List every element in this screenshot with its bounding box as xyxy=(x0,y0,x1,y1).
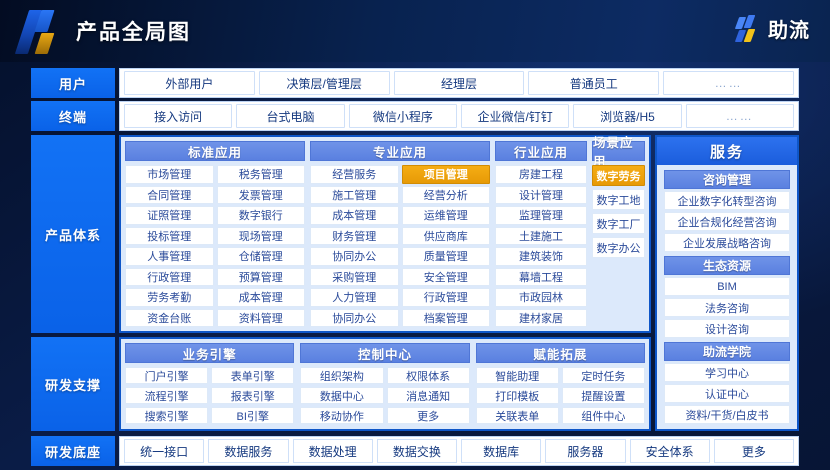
terminal-cell[interactable]: 企业微信/钉钉 xyxy=(461,104,569,128)
group-column: 市场管理合同管理证照管理投标管理人事管理行政管理劳务考勤资金台账 xyxy=(125,165,214,327)
app-item[interactable]: 现场管理 xyxy=(217,227,306,246)
app-item[interactable]: 智能助理 xyxy=(476,367,559,384)
app-item[interactable]: 组织架构 xyxy=(300,367,383,384)
group-column: 税务管理发票管理数字银行现场管理仓储管理预算管理成本管理资料管理 xyxy=(217,165,306,327)
dev-base-cell[interactable]: 服务器 xyxy=(545,439,625,463)
app-item[interactable]: 项目管理 xyxy=(402,165,491,184)
terminal-cell[interactable]: 台式电脑 xyxy=(236,104,344,128)
group-column: 数字劳务数字工地数字工厂数字办公 xyxy=(592,165,645,327)
app-item[interactable]: 组件中心 xyxy=(562,407,645,424)
app-item[interactable]: 经营分析 xyxy=(402,186,491,205)
app-item[interactable]: 监理管理 xyxy=(495,206,587,225)
group-赋能拓展: 赋能拓展智能助理打印模板关联表单定时任务提醒设置组件中心 xyxy=(476,343,645,425)
app-item[interactable]: 人事管理 xyxy=(125,247,214,266)
app-item[interactable]: 表单引擎 xyxy=(211,367,294,384)
dev-base-cell[interactable]: 统一接口 xyxy=(124,439,204,463)
page-title: 产品全局图 xyxy=(76,16,191,46)
app-item[interactable]: 权限体系 xyxy=(387,367,470,384)
product-system-row: 产品体系 标准应用市场管理合同管理证照管理投标管理人事管理行政管理劳务考勤资金台… xyxy=(31,135,651,333)
service-item[interactable]: 资料/干货/白皮书 xyxy=(664,405,790,424)
group-column: 房建工程设计管理监理管理土建施工建筑装饰幕墙工程市政园林建材家居 xyxy=(495,165,587,327)
dev-base-cell[interactable]: 更多 xyxy=(714,439,794,463)
app-item[interactable]: 数字工地 xyxy=(592,189,645,210)
app-item[interactable]: 搜索引擎 xyxy=(125,407,208,424)
service-block-生态资源: 生态资源BIM法务咨询设计咨询 xyxy=(664,256,790,338)
group-items: 房建工程设计管理监理管理土建施工建筑装饰幕墙工程市政园林建材家居 xyxy=(495,165,587,327)
app-item[interactable]: 土建施工 xyxy=(495,227,587,246)
app-item[interactable]: 移动协作 xyxy=(300,407,383,424)
app-item[interactable]: 劳务考勤 xyxy=(125,288,214,307)
service-block-title: 助流学院 xyxy=(664,342,790,361)
app-item[interactable]: 资料管理 xyxy=(217,309,306,328)
app-item[interactable]: 报表引擎 xyxy=(211,387,294,404)
app-item[interactable]: 设计管理 xyxy=(495,186,587,205)
app-item[interactable]: 档案管理 xyxy=(402,309,491,328)
app-item[interactable]: 房建工程 xyxy=(495,165,587,184)
app-item[interactable]: 运维管理 xyxy=(402,206,491,225)
user-cell[interactable]: 外部用户 xyxy=(124,71,255,95)
dev-base-cell[interactable]: 数据库 xyxy=(461,439,541,463)
app-item[interactable]: 数字办公 xyxy=(592,237,645,258)
terminal-cell[interactable]: 浏览器/H5 xyxy=(573,104,681,128)
product-system-panel: 标准应用市场管理合同管理证照管理投标管理人事管理行政管理劳务考勤资金台账税务管理… xyxy=(119,135,651,333)
group-column: 门户引擎流程引擎搜索引擎 xyxy=(125,367,208,425)
app-item[interactable]: 幕墙工程 xyxy=(495,268,587,287)
app-item[interactable]: 成本管理 xyxy=(310,206,399,225)
service-item[interactable]: BIM xyxy=(664,277,790,296)
app-item[interactable]: 协同办公 xyxy=(310,247,399,266)
app-item[interactable]: 建材家居 xyxy=(495,309,587,328)
terminal-row: 终端 接入访问台式电脑微信小程序企业微信/钉钉浏览器/H5…… xyxy=(31,101,799,131)
group-items: 智能助理打印模板关联表单定时任务提醒设置组件中心 xyxy=(476,367,645,425)
app-item[interactable]: 行政管理 xyxy=(125,268,214,287)
app-item[interactable]: 施工管理 xyxy=(310,186,399,205)
row-label-dev-base: 研发底座 xyxy=(31,436,115,466)
app-item[interactable]: 仓储管理 xyxy=(217,247,306,266)
app-item[interactable]: 证照管理 xyxy=(125,206,214,225)
app-item[interactable]: 投标管理 xyxy=(125,227,214,246)
user-cell[interactable]: 决策层/管理层 xyxy=(259,71,390,95)
user-row: 用户 外部用户决策层/管理层经理层普通员工…… xyxy=(31,68,799,98)
row-label-product-system: 产品体系 xyxy=(31,135,115,333)
service-panel: 服务 咨询管理企业数字化转型咨询企业合规化经营咨询企业发展战略咨询生态资源BIM… xyxy=(655,135,799,431)
dev-base-cell[interactable]: 数据处理 xyxy=(293,439,373,463)
app-item[interactable]: 预算管理 xyxy=(217,268,306,287)
group-column: 经营服务施工管理成本管理财务管理协同办公采购管理人力管理协同办公 xyxy=(310,165,399,327)
service-item[interactable]: 企业合规化经营咨询 xyxy=(664,212,790,231)
user-cell[interactable]: …… xyxy=(663,71,794,95)
group-标准应用: 标准应用市场管理合同管理证照管理投标管理人事管理行政管理劳务考勤资金台账税务管理… xyxy=(125,141,305,327)
app-item[interactable]: 建筑装饰 xyxy=(495,247,587,266)
service-item[interactable]: 学习中心 xyxy=(664,363,790,382)
group-items: 数字劳务数字工地数字工厂数字办公 xyxy=(592,165,645,327)
user-cell[interactable]: 普通员工 xyxy=(528,71,659,95)
group-业务引擎: 业务引擎门户引擎流程引擎搜索引擎表单引擎报表引擎BI引擎 xyxy=(125,343,294,425)
service-block-title: 生态资源 xyxy=(664,256,790,275)
service-block-title: 咨询管理 xyxy=(664,170,790,189)
group-行业应用: 行业应用房建工程设计管理监理管理土建施工建筑装饰幕墙工程市政园林建材家居 xyxy=(495,141,587,327)
app-item[interactable]: 提醒设置 xyxy=(562,387,645,404)
group-column: 智能助理打印模板关联表单 xyxy=(476,367,559,425)
row-label-dev-support: 研发支撑 xyxy=(31,337,115,431)
app-item[interactable]: 供应商库 xyxy=(402,227,491,246)
dev-support-panel: 业务引擎门户引擎流程引擎搜索引擎表单引擎报表引擎BI引擎控制中心组织架构数据中心… xyxy=(119,337,651,431)
group-title: 业务引擎 xyxy=(125,343,294,363)
app-item[interactable]: 市政园林 xyxy=(495,288,587,307)
app-item[interactable]: 经营服务 xyxy=(310,165,399,184)
service-item[interactable]: 企业发展战略咨询 xyxy=(664,233,790,252)
group-控制中心: 控制中心组织架构数据中心移动协作权限体系消息通知更多 xyxy=(300,343,469,425)
terminal-cell[interactable]: 微信小程序 xyxy=(349,104,457,128)
dev-base-cell[interactable]: 安全体系 xyxy=(630,439,710,463)
service-blocks: 咨询管理企业数字化转型咨询企业合规化经营咨询企业发展战略咨询生态资源BIM法务咨… xyxy=(657,165,797,429)
app-item[interactable]: 数据中心 xyxy=(300,387,383,404)
app-item[interactable]: 采购管理 xyxy=(310,268,399,287)
service-item[interactable]: 设计咨询 xyxy=(664,319,790,338)
group-title: 控制中心 xyxy=(300,343,469,363)
app-item[interactable]: 税务管理 xyxy=(217,165,306,184)
row-label-terminal: 终端 xyxy=(31,101,115,131)
app-item[interactable]: 关联表单 xyxy=(476,407,559,424)
group-items: 经营服务施工管理成本管理财务管理协同办公采购管理人力管理协同办公项目管理经营分析… xyxy=(310,165,490,327)
group-column: 表单引擎报表引擎BI引擎 xyxy=(211,367,294,425)
row-label-user: 用户 xyxy=(31,68,115,98)
app-item[interactable]: 发票管理 xyxy=(217,186,306,205)
terminal-cell[interactable]: …… xyxy=(686,104,794,128)
app-item[interactable]: 定时任务 xyxy=(562,367,645,384)
terminal-cells: 接入访问台式电脑微信小程序企业微信/钉钉浏览器/H5…… xyxy=(119,101,799,131)
group-items: 组织架构数据中心移动协作权限体系消息通知更多 xyxy=(300,367,469,425)
group-items: 市场管理合同管理证照管理投标管理人事管理行政管理劳务考勤资金台账税务管理发票管理… xyxy=(125,165,305,327)
dev-base-row: 研发底座 统一接口数据服务数据处理数据交换数据库服务器安全体系更多 xyxy=(31,436,799,466)
group-专业应用: 专业应用经营服务施工管理成本管理财务管理协同办公采购管理人力管理协同办公项目管理… xyxy=(310,141,490,327)
terminal-cell[interactable]: 接入访问 xyxy=(124,104,232,128)
service-block-咨询管理: 咨询管理企业数字化转型咨询企业合规化经营咨询企业发展战略咨询 xyxy=(664,170,790,252)
dev-base-cells: 统一接口数据服务数据处理数据交换数据库服务器安全体系更多 xyxy=(119,436,799,466)
group-column: 项目管理经营分析运维管理供应商库质量管理安全管理行政管理档案管理 xyxy=(402,165,491,327)
parallelogram-logo-icon xyxy=(20,8,62,54)
user-cell[interactable]: 经理层 xyxy=(394,71,525,95)
product-overview-page: 产品全局图 助流 用户 外部用户决策层/管理层经理层普通员工…… 终端 接入访问… xyxy=(0,0,830,470)
service-item[interactable]: 企业数字化转型咨询 xyxy=(664,191,790,210)
group-title: 标准应用 xyxy=(125,141,305,161)
app-item[interactable]: 财务管理 xyxy=(310,227,399,246)
group-column: 定时任务提醒设置组件中心 xyxy=(562,367,645,425)
app-item[interactable]: 流程引擎 xyxy=(125,387,208,404)
group-items: 门户引擎流程引擎搜索引擎表单引擎报表引擎BI引擎 xyxy=(125,367,294,425)
app-item[interactable]: 协同办公 xyxy=(310,309,399,328)
group-title: 赋能拓展 xyxy=(476,343,645,363)
brand-name: 助流 xyxy=(768,14,810,43)
app-item[interactable]: 成本管理 xyxy=(217,288,306,307)
app-item[interactable]: 门户引擎 xyxy=(125,367,208,384)
app-item[interactable]: 资金台账 xyxy=(125,309,214,328)
dev-base-cell[interactable]: 数据交换 xyxy=(377,439,457,463)
app-item[interactable]: 打印模板 xyxy=(476,387,559,404)
page-header: 产品全局图 助流 xyxy=(0,0,830,62)
app-item[interactable]: 人力管理 xyxy=(310,288,399,307)
group-title: 专业应用 xyxy=(310,141,490,161)
app-item[interactable]: 行政管理 xyxy=(402,288,491,307)
service-block-助流学院: 助流学院学习中心认证中心资料/干货/白皮书 xyxy=(664,342,790,424)
service-title: 服务 xyxy=(657,137,797,165)
user-cells: 外部用户决策层/管理层经理层普通员工…… xyxy=(119,68,799,98)
app-item[interactable]: 消息通知 xyxy=(387,387,470,404)
app-item[interactable]: 市场管理 xyxy=(125,165,214,184)
app-item[interactable]: 数字劳务 xyxy=(592,165,645,186)
app-item[interactable]: BI引擎 xyxy=(211,407,294,424)
app-item[interactable]: 质量管理 xyxy=(402,247,491,266)
group-title: 场景应用 xyxy=(592,141,645,161)
app-item[interactable]: 数字工厂 xyxy=(592,213,645,234)
brand-lockup: 助流 xyxy=(736,14,810,43)
service-item[interactable]: 法务咨询 xyxy=(664,298,790,317)
group-场景应用: 场景应用数字劳务数字工地数字工厂数字办公 xyxy=(592,141,645,327)
app-item[interactable]: 数字银行 xyxy=(217,206,306,225)
group-column: 组织架构数据中心移动协作 xyxy=(300,367,383,425)
group-title: 行业应用 xyxy=(495,141,587,161)
zhuliu-brand-icon xyxy=(736,15,762,43)
dev-support-row: 研发支撑 业务引擎门户引擎流程引擎搜索引擎表单引擎报表引擎BI引擎控制中心组织架… xyxy=(31,337,651,431)
app-item[interactable]: 安全管理 xyxy=(402,268,491,287)
app-item[interactable]: 更多 xyxy=(387,407,470,424)
service-item[interactable]: 认证中心 xyxy=(664,384,790,403)
dev-base-cell[interactable]: 数据服务 xyxy=(208,439,288,463)
app-item[interactable]: 合同管理 xyxy=(125,186,214,205)
group-column: 权限体系消息通知更多 xyxy=(387,367,470,425)
